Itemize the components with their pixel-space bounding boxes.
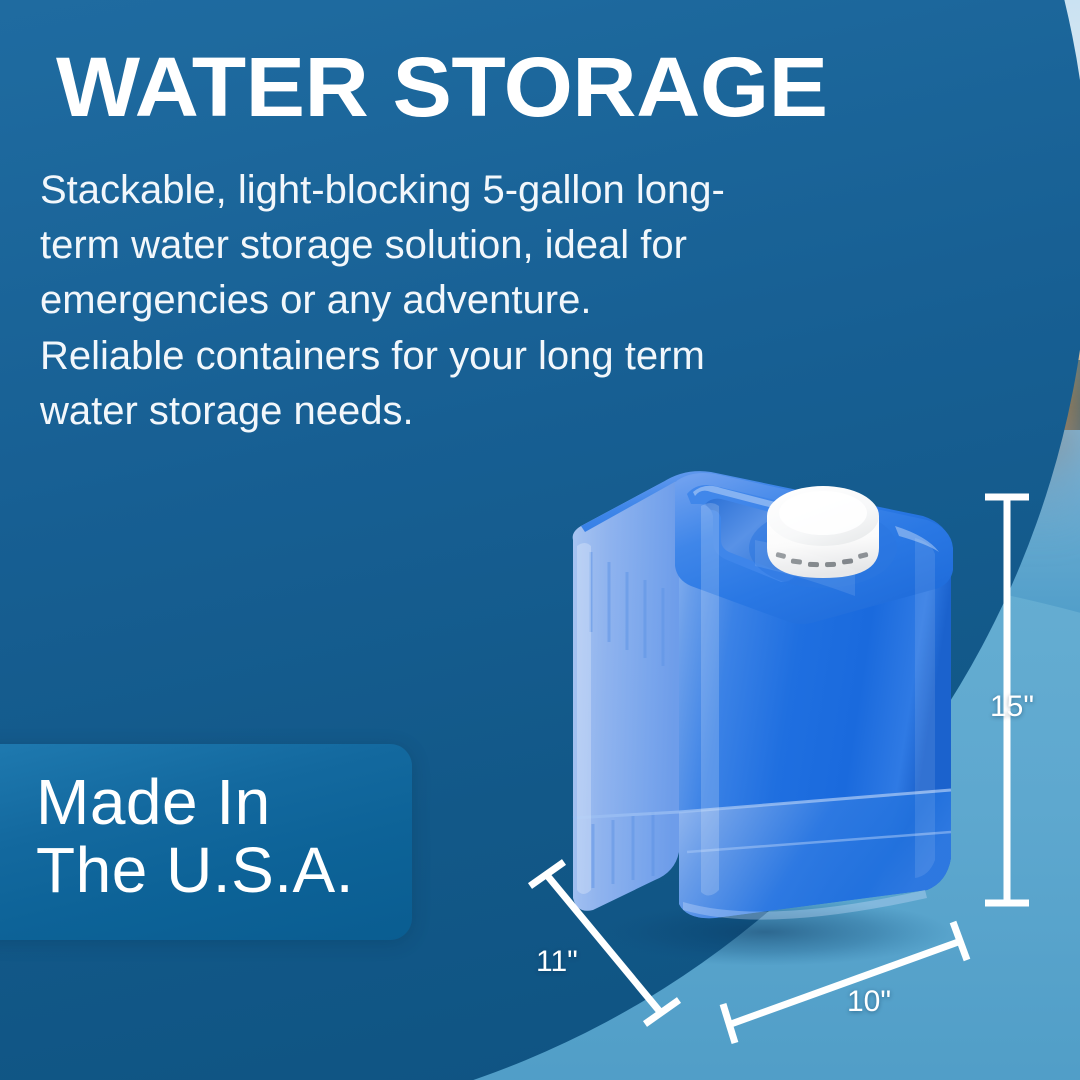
- description-line: Stackable, light-blocking 5-gallon long-: [40, 163, 800, 218]
- description-line: emergencies or any adventure.: [40, 273, 800, 328]
- made-in-usa-badge: Made In The U.S.A.: [0, 744, 412, 940]
- product-description: Stackable, light-blocking 5-gallon long-…: [40, 163, 800, 439]
- product-image-water-container: [515, 420, 985, 965]
- jug-front-highlight: [701, 503, 719, 896]
- page-title: WATER STORAGE: [56, 46, 827, 128]
- water-jug-illustration: [515, 420, 985, 965]
- made-in-usa-line1: Made In: [36, 768, 354, 836]
- description-line: term water storage solution, ideal for: [40, 218, 800, 273]
- jug-left-highlight: [577, 543, 591, 894]
- made-in-usa-label: Made In The U.S.A.: [36, 768, 354, 905]
- description-line: Reliable containers for your long term: [40, 329, 800, 384]
- infographic-canvas: WATER STORAGE Stackable, light-blocking …: [0, 0, 1080, 1080]
- jug-cap-top-inner: [779, 491, 867, 535]
- made-in-usa-line2: The U.S.A.: [36, 836, 354, 904]
- jug-front-highlight-2: [915, 538, 935, 878]
